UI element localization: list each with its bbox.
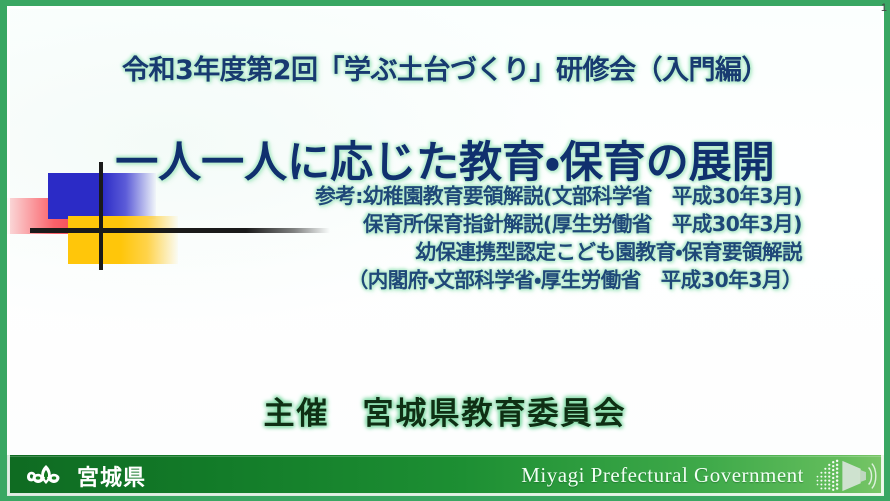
organizer-label: 主催 宮城県教育委員会 bbox=[0, 388, 890, 433]
footer-banner: 宮城県 Miyagi Prefectural Government bbox=[7, 455, 884, 496]
slide-title: 一人一人に応じた教育・保育の展開 bbox=[0, 128, 890, 190]
event-subtitle: 令和3年度第2回「学ぶ土台づくり」研修会（入門編） bbox=[0, 48, 890, 87]
megaphone-halftone-icon bbox=[812, 457, 878, 495]
miyagi-clover-mark-icon bbox=[25, 463, 67, 489]
frame-border-bottom bbox=[0, 496, 890, 501]
reference-line: （内閣府・文部科学省・厚生労働省 平成30年3月） bbox=[315, 266, 802, 294]
reference-line: 参考:幼稚園教育要領解説(文部科学省 平成30年3月) bbox=[315, 182, 802, 210]
decoration-yellow-block bbox=[68, 216, 178, 264]
page-number: 1 bbox=[881, 2, 887, 14]
decoration-horizontal-rule bbox=[30, 228, 330, 233]
reference-line: 幼保連携型認定こども園教育・保育要領解説 bbox=[315, 238, 802, 266]
prefecture-name-label: 宮城県 bbox=[77, 460, 146, 492]
government-name-label: Miyagi Prefectural Government bbox=[521, 463, 804, 488]
slide-canvas: 令和3年度第2回「学ぶ土台づくり」研修会（入門編） 一人一人に応じた教育・保育の… bbox=[0, 0, 890, 501]
reference-list: 参考:幼稚園教育要領解説(文部科学省 平成30年3月) 保育所保育指針解説(厚生… bbox=[315, 182, 802, 294]
footer-branding: 宮城県 bbox=[25, 460, 146, 492]
reference-line: 保育所保育指針解説(厚生労働省 平成30年3月) bbox=[315, 210, 802, 238]
